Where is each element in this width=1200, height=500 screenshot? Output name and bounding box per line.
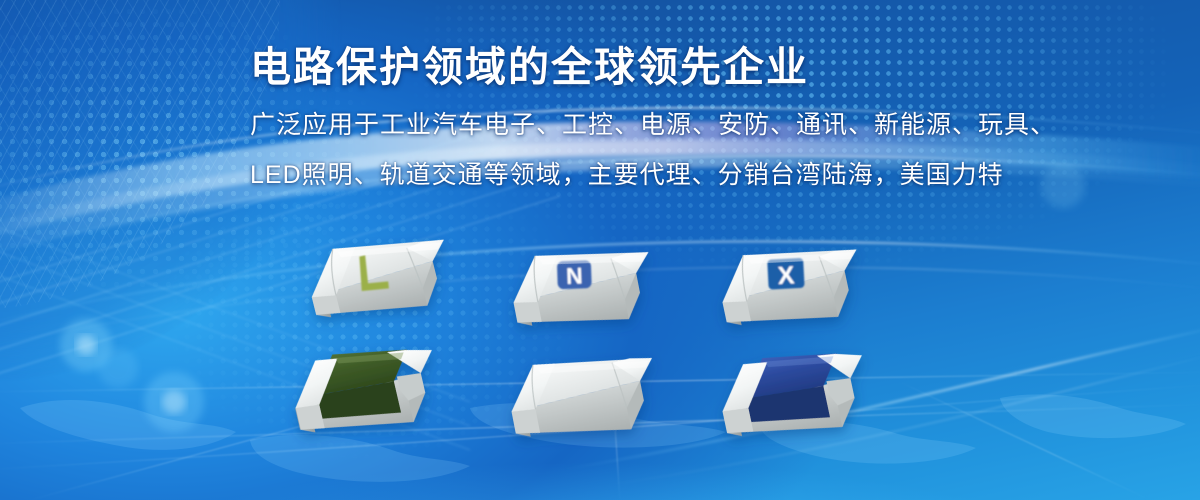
banner-text-block: 电路保护领域的全球领先企业 广泛应用于工业汽车电子、工控、电源、安防、通讯、新能…: [250, 44, 1070, 188]
product-chip-blue[interactable]: [713, 338, 875, 451]
product-chip-x[interactable]: X: [714, 232, 870, 340]
svg-text:N: N: [566, 262, 584, 289]
globe-texture-decoration: [0, 0, 280, 310]
chip-marking-n: N: [553, 255, 597, 295]
world-map-silhouette: [0, 290, 1200, 500]
chip-marking-x: X: [763, 252, 810, 295]
product-chip-plain[interactable]: [504, 342, 665, 451]
product-chip-green[interactable]: [286, 332, 447, 447]
bottom-glow-decoration: [0, 330, 1200, 500]
product-chip-n[interactable]: N: [506, 235, 661, 341]
banner-subtitle-line-2: LED照明、轨道交通等领域，主要代理、分销台湾陆海，美国力特: [250, 163, 1070, 188]
page-title: 电路保护领域的全球领先企业: [250, 44, 1070, 91]
banner-subtitle-line-1: 广泛应用于工业汽车电子、工控、电源、安防、通讯、新能源、玩具、: [250, 113, 1070, 138]
chip-marking-l: [354, 251, 390, 295]
hero-banner: 电路保护领域的全球领先企业 广泛应用于工业汽车电子、工控、电源、安防、通讯、新能…: [0, 0, 1200, 500]
product-chip-l[interactable]: [302, 222, 459, 332]
svg-text:X: X: [777, 261, 795, 290]
